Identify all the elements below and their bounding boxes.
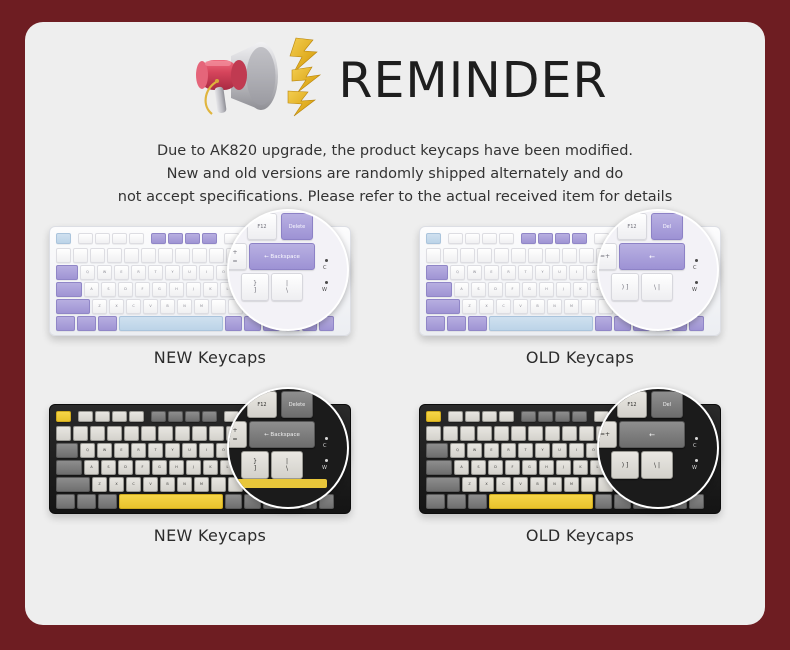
notice-line-1: Due to AK820 upgrade, the product keycap… xyxy=(25,140,765,163)
mag-key-f12: F12 xyxy=(247,391,277,418)
card-old-light: Q W E R T Y U I O P xyxy=(395,212,765,397)
card-caption-new-light: NEW Keycaps xyxy=(25,348,395,367)
magnifier-new-light: F12 Delete += ← Backspace }] |\ C W xyxy=(227,209,349,331)
notice-line-2: New and old versions are randomly shippe… xyxy=(25,163,765,186)
magnifier-old-light: F12 Del =+ ← ) ] \ | C W xyxy=(597,209,719,331)
mag-key-delete: Delete xyxy=(281,213,313,240)
card-caption-old-light: OLD Keycaps xyxy=(395,348,765,367)
header: REMINDER xyxy=(25,30,765,130)
indicator-dot-2 xyxy=(695,281,698,284)
mag-key-plus-equals: =+ xyxy=(597,421,617,448)
mag-key-bracket: }] xyxy=(241,273,269,301)
keyboard-image-old-dark: Q W E R T Y U I O P xyxy=(409,392,739,522)
mag-side-label-c: C xyxy=(323,265,327,271)
indicator-dot-1 xyxy=(325,259,328,262)
magnifier-old-dark: F12 Del =+ ← ) ] \ | C W xyxy=(597,387,719,509)
mag-key-backspace-arrow: ← xyxy=(619,243,685,270)
mag-key-backspace-arrow: ← xyxy=(619,421,685,448)
mag-key-plus-equals: += xyxy=(227,243,247,270)
keyboard-image-new-dark: Q W E R T Y U I O P xyxy=(39,392,369,522)
card-caption-new-dark: NEW Keycaps xyxy=(25,526,395,545)
indicator-dot-1 xyxy=(695,437,698,440)
mag-key-backslash: \ | xyxy=(641,451,673,479)
indicator-dot-2 xyxy=(325,281,328,284)
outer-frame: REMINDER Due to AK820 upgrade, the produ… xyxy=(0,0,790,650)
card-caption-old-dark: OLD Keycaps xyxy=(395,526,765,545)
indicator-dot-2 xyxy=(325,459,328,462)
mag-key-delete: Delete xyxy=(281,391,313,418)
mag-side-label-w: W xyxy=(692,287,697,293)
content-panel: REMINDER Due to AK820 upgrade, the produ… xyxy=(25,22,765,625)
mag-key-del: Del xyxy=(651,213,683,240)
mag-side-label-w: W xyxy=(322,287,327,293)
mag-key-backspace: ← Backspace xyxy=(249,243,315,270)
card-new-light: Q W E R T Y U I O P xyxy=(25,212,395,397)
mag-spacebar-edge xyxy=(235,479,327,488)
indicator-dot-2 xyxy=(695,459,698,462)
mag-side-label-c: C xyxy=(693,265,697,271)
mag-key-bracket: }] xyxy=(241,451,269,479)
mag-key-backslash: |\ xyxy=(271,451,303,479)
mag-key-f12: F12 xyxy=(617,391,647,418)
notice-text: Due to AK820 upgrade, the product keycap… xyxy=(25,140,765,209)
megaphone-icon xyxy=(182,34,332,126)
mag-key-f12: F12 xyxy=(247,213,277,240)
mag-key-bracket: ) ] xyxy=(611,451,639,479)
mag-side-label-w: W xyxy=(692,465,697,471)
notice-line-3: not accept specifications. Please refer … xyxy=(25,186,765,209)
mag-key-f12: F12 xyxy=(617,213,647,240)
mag-key-del: Del xyxy=(651,391,683,418)
card-new-dark: Q W E R T Y U I O P xyxy=(25,390,395,575)
page-title: REMINDER xyxy=(338,56,607,105)
keycap-comparison-grid: Q W E R T Y U I O P xyxy=(25,212,765,582)
mag-key-backslash: \ | xyxy=(641,273,673,301)
mag-key-bracket: ) ] xyxy=(611,273,639,301)
mag-side-label-c: C xyxy=(693,443,697,449)
card-old-dark: Q W E R T Y U I O P xyxy=(395,390,765,575)
mag-side-label-w: W xyxy=(322,465,327,471)
keyboard-image-new-light: Q W E R T Y U I O P xyxy=(39,214,369,344)
keyboard-image-old-light: Q W E R T Y U I O P xyxy=(409,214,739,344)
magnifier-new-dark: F12 Delete += ← Backspace }] |\ C W xyxy=(227,387,349,509)
mag-key-backspace: ← Backspace xyxy=(249,421,315,448)
mag-key-backslash: |\ xyxy=(271,273,303,301)
mag-key-plus-equals: =+ xyxy=(597,243,617,270)
indicator-dot-1 xyxy=(325,437,328,440)
mag-key-plus-equals: += xyxy=(227,421,247,448)
indicator-dot-1 xyxy=(695,259,698,262)
mag-side-label-c: C xyxy=(323,443,327,449)
